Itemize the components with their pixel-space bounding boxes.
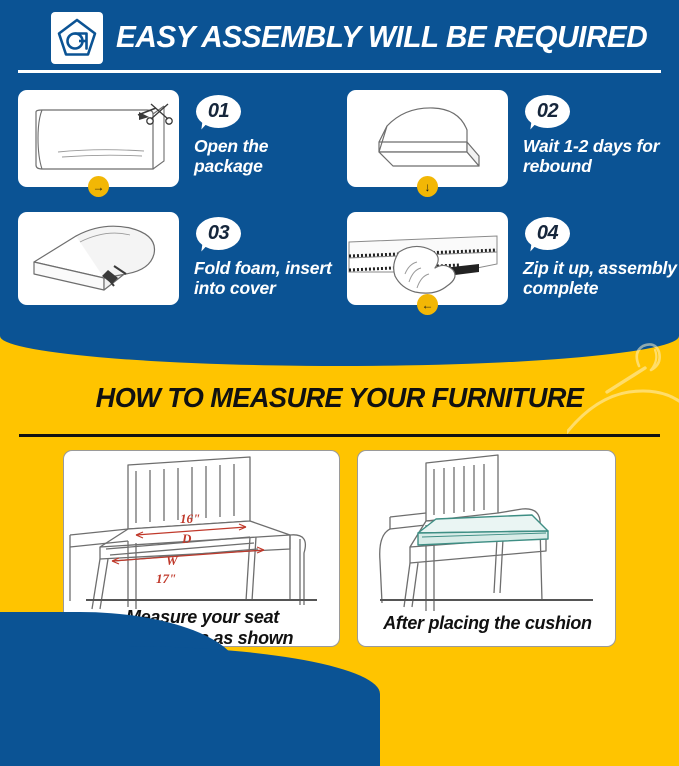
step-02-number-badge: 02 [525, 95, 570, 132]
panel-right-caption-line1: After placing the cushion [358, 613, 616, 634]
arrow-glyph: → [93, 181, 105, 193]
arrow-right-badge: → [88, 176, 109, 197]
house-pentagon-logo-icon [51, 12, 103, 64]
step-03: 03 Fold foam, insert into cover [18, 212, 338, 312]
arrow-glyph: ← [422, 299, 434, 311]
step-02-illustration: ↓ [347, 90, 508, 187]
step-01-illustration: → [18, 90, 179, 187]
panel-right-divider [380, 599, 593, 601]
measure-title-underline [19, 434, 660, 437]
step-01-number-badge: 01 [196, 95, 241, 132]
step-04-label-line1: Zip it up, assembly [523, 258, 679, 278]
bottom-wave-decoration-2 [0, 646, 380, 766]
step-01-label-line1: Open the [194, 136, 344, 156]
step-03-label: Fold foam, insert into cover [194, 258, 354, 298]
step-04-number: 04 [537, 222, 558, 245]
step-04: ← 04 Zip it up, assembly complete [347, 212, 667, 312]
arrow-glyph: ↓ [425, 181, 431, 193]
step-01-label: Open the package [194, 136, 344, 176]
step-01: → 01 Open the package [18, 90, 338, 190]
measure-section-title: HOW TO MEASURE YOUR FURNITURE [10, 381, 669, 415]
step-01-label-line2: package [194, 156, 344, 176]
step-02-label-line2: rebound [523, 156, 679, 176]
arrow-down-badge: ↓ [417, 176, 438, 197]
dim-W: W [166, 553, 179, 568]
dim-16in: 16" [180, 511, 200, 526]
step-01-number: 01 [208, 100, 229, 123]
step-03-label-line1: Fold foam, insert [194, 258, 354, 278]
step-02-label: Wait 1-2 days for rebound [523, 136, 679, 176]
step-03-number: 03 [208, 222, 229, 245]
chair-measurement-illustration: 16" D W 17" [64, 451, 339, 616]
step-04-label: Zip it up, assembly complete [523, 258, 679, 298]
panel-left-divider [86, 599, 317, 601]
arrow-left-badge: ← [417, 294, 438, 315]
step-03-label-line2: into cover [194, 278, 354, 298]
step-03-number-badge: 03 [196, 217, 241, 254]
dim-17in: 17" [156, 571, 176, 586]
step-03-illustration [18, 212, 179, 305]
step-04-label-line2: complete [523, 278, 679, 298]
step-02: ↓ 02 Wait 1-2 days for rebound [347, 90, 667, 190]
measure-panel-right: After placing the cushion [357, 450, 616, 647]
panel-right-caption: After placing the cushion [358, 613, 616, 634]
step-04-illustration: ← [347, 212, 508, 305]
header-divider [18, 70, 661, 73]
assembly-section: EASY ASSEMBLY WILL BE REQUIRED [0, 0, 679, 366]
infographic-root: EASY ASSEMBLY WILL BE REQUIRED [0, 0, 679, 679]
chair-with-cushion-illustration [370, 451, 610, 616]
step-04-number-badge: 04 [525, 217, 570, 254]
assembly-title: EASY ASSEMBLY WILL BE REQUIRED [116, 15, 647, 59]
assembly-header: EASY ASSEMBLY WILL BE REQUIRED [0, 0, 679, 62]
dim-D: D [181, 531, 192, 546]
step-02-label-line1: Wait 1-2 days for [523, 136, 679, 156]
step-02-number: 02 [537, 100, 558, 123]
